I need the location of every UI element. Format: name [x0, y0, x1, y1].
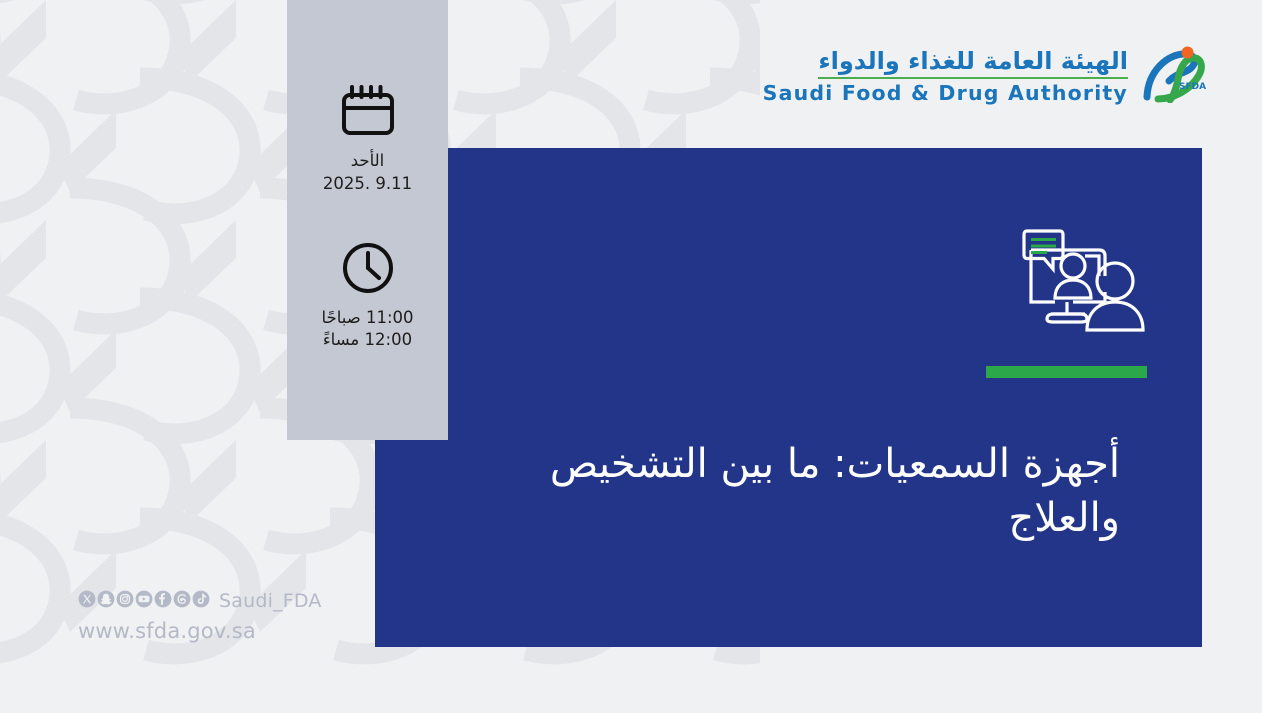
time-block: 11:00 صباحًا 12:00 مساءً: [321, 241, 413, 353]
website-url[interactable]: www.sfda.gov.sa: [78, 619, 322, 643]
event-date-value: 9.11 .2025: [323, 173, 412, 196]
social-links-row: Saudi_FDA: [78, 590, 322, 613]
event-day-label: الأحد: [323, 150, 412, 173]
sfda-logo-mark-icon: SFDA: [1142, 45, 1208, 107]
clock-icon: [321, 241, 413, 299]
footer: Saudi_FDA www.sfda.gov.sa: [78, 590, 322, 643]
announcement-slide: الأحد 9.11 .2025 11:00 صباحًا 12:00 مساء…: [0, 0, 1262, 713]
page-title: أجهزة السمعيات: ما بين التشخيص والعلاج: [430, 437, 1120, 545]
sfda-english-name: Saudi Food & Drug Authority: [763, 82, 1128, 105]
snapchat-icon[interactable]: [97, 590, 115, 613]
schedule-details: الأحد 9.11 .2025 11:00 صباحًا 12:00 مساء…: [287, 0, 448, 440]
event-start-time: 11:00 صباحًا: [321, 307, 413, 330]
date-block: الأحد 9.11 .2025: [323, 84, 412, 196]
facebook-icon[interactable]: [154, 590, 172, 613]
youtube-icon[interactable]: [135, 590, 153, 613]
webinar-screen-icon: [1003, 222, 1151, 354]
tiktok-icon[interactable]: [192, 590, 210, 613]
social-handle: Saudi_FDA: [219, 592, 322, 611]
instagram-icon[interactable]: [116, 590, 134, 613]
green-accent-bar: [986, 366, 1147, 378]
threads-icon[interactable]: [173, 590, 191, 613]
sfda-logo-text: الهيئة العامة للغذاء والدواء Saudi Food …: [763, 48, 1128, 104]
svg-text:SFDA: SFDA: [1179, 82, 1206, 92]
event-end-time: 12:00 مساءً: [321, 329, 413, 352]
x-twitter-icon[interactable]: [78, 590, 96, 613]
sfda-logo: الهيئة العامة للغذاء والدواء Saudi Food …: [763, 45, 1208, 107]
calendar-icon: [323, 84, 412, 142]
sfda-arabic-name: الهيئة العامة للغذاء والدواء: [818, 48, 1128, 79]
